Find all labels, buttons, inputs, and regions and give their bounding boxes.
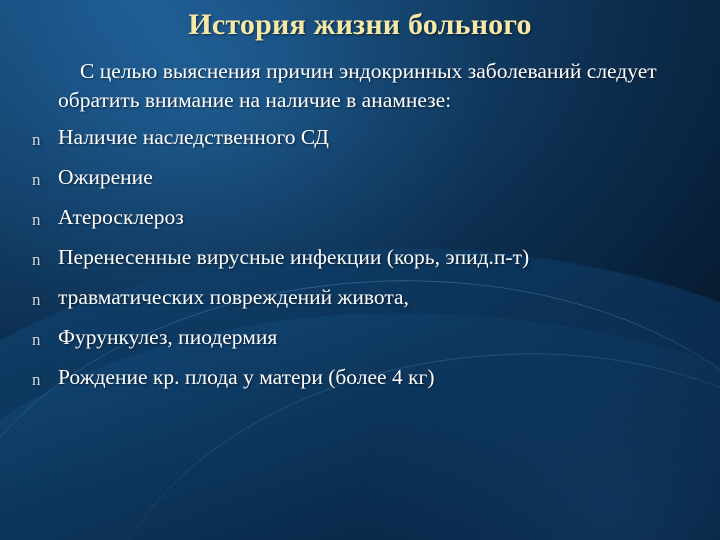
bullet-marker-icon: n bbox=[32, 325, 41, 354]
list-item: n Ожирение bbox=[30, 163, 695, 192]
bullet-marker-icon: n bbox=[32, 205, 41, 234]
bullet-marker-icon: n bbox=[32, 365, 41, 394]
bullet-marker-icon: n bbox=[32, 165, 41, 194]
list-item-label: Перенесенные вирусные инфекции (корь, эп… bbox=[58, 245, 529, 269]
list-item: n Перенесенные вирусные инфекции (корь, … bbox=[30, 243, 695, 272]
list-item-label: Атеросклероз bbox=[58, 205, 184, 229]
slide-body: С целью выяснения причин эндокринных заб… bbox=[30, 57, 695, 403]
lead-paragraph: С целью выяснения причин эндокринных заб… bbox=[30, 57, 658, 115]
list-item-label: Наличие наследственного СД bbox=[58, 125, 329, 149]
bullet-marker-icon: n bbox=[32, 245, 41, 274]
list-item: n Атеросклероз bbox=[30, 203, 695, 232]
list-item: n Наличие наследственного СД bbox=[30, 123, 695, 152]
list-item-label: Фурункулез, пиодермия bbox=[58, 325, 277, 349]
list-item: n Рождение кр. плода у матери (более 4 к… bbox=[30, 363, 695, 392]
list-item-label: Ожирение bbox=[58, 165, 153, 189]
list-item: n травматических повреждений живота, bbox=[30, 283, 695, 312]
bullet-list: n Наличие наследственного СД n Ожирение … bbox=[30, 123, 695, 392]
list-item-label: Рождение кр. плода у матери (более 4 кг) bbox=[58, 365, 435, 389]
list-item: n Фурункулез, пиодермия bbox=[30, 323, 695, 352]
bullet-marker-icon: n bbox=[32, 125, 41, 154]
list-item-label: травматических повреждений живота, bbox=[58, 285, 409, 309]
slide: История жизни больного С целью выяснения… bbox=[0, 0, 720, 540]
slide-title: История жизни больного bbox=[0, 8, 720, 42]
bullet-marker-icon: n bbox=[32, 285, 41, 314]
